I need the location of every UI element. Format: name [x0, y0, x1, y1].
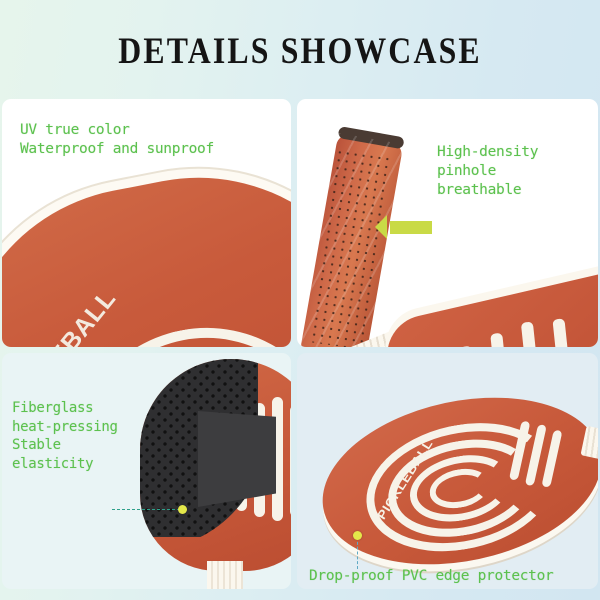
paddle-body: PICKLEBALL — [319, 379, 598, 584]
tilted-paddle-artwork: PICKLEBALL — [297, 353, 598, 589]
panel-uv-true-color[interactable]: PICKLEBALL UV true color Waterproof and … — [2, 99, 291, 347]
grip-handle — [301, 133, 404, 347]
fp-stripe-4 — [290, 405, 291, 517]
paddle-fingerprint-rings: PICKLEBALL — [2, 145, 291, 347]
face-stripe-4 — [521, 322, 544, 347]
pointer-arrow-icon — [390, 221, 432, 234]
grip-artwork — [297, 99, 598, 347]
core-cut-face — [198, 411, 276, 507]
panel-pinhole-grip[interactable]: High-density pinhole breathable — [297, 99, 598, 347]
leader-marker-dot — [178, 505, 187, 514]
leader-line — [112, 509, 180, 510]
page-title: DETAILS SHOWCASE — [42, 30, 558, 73]
title-bar: DETAILS SHOWCASE — [0, 0, 600, 96]
paddle-fingerprint-rings — [319, 379, 598, 584]
face-stripe-5 — [552, 318, 574, 347]
caption-uv-true-color: UV true color Waterproof and sunproof — [20, 121, 214, 159]
caption-pinhole-grip: High-density pinhole breathable — [437, 143, 538, 200]
panel-fiberglass-core[interactable]: Fiberglass heat-pressing Stable elastici… — [2, 353, 291, 589]
caption-pvc-edge-protector: Drop-proof PVC edge protector — [309, 567, 553, 586]
brand-logo: PICKLEBALL — [2, 284, 122, 347]
face-stripe-3 — [490, 333, 512, 347]
paddle-face-shape — [379, 269, 598, 347]
caption-fiberglass-core: Fiberglass heat-pressing Stable elastici… — [12, 399, 118, 473]
paddle-body — [140, 359, 291, 571]
showcase-stage: DETAILS SHOWCASE PICKLEBALL UV true colo… — [0, 0, 600, 600]
leader-line — [357, 537, 358, 569]
face-stripe-2 — [460, 346, 481, 347]
paddle-handle — [207, 561, 243, 589]
panel-pvc-edge-protector[interactable]: PICKLEBALL Drop-proof PVC edge protector — [297, 353, 598, 589]
leader-marker-dot — [353, 531, 362, 540]
